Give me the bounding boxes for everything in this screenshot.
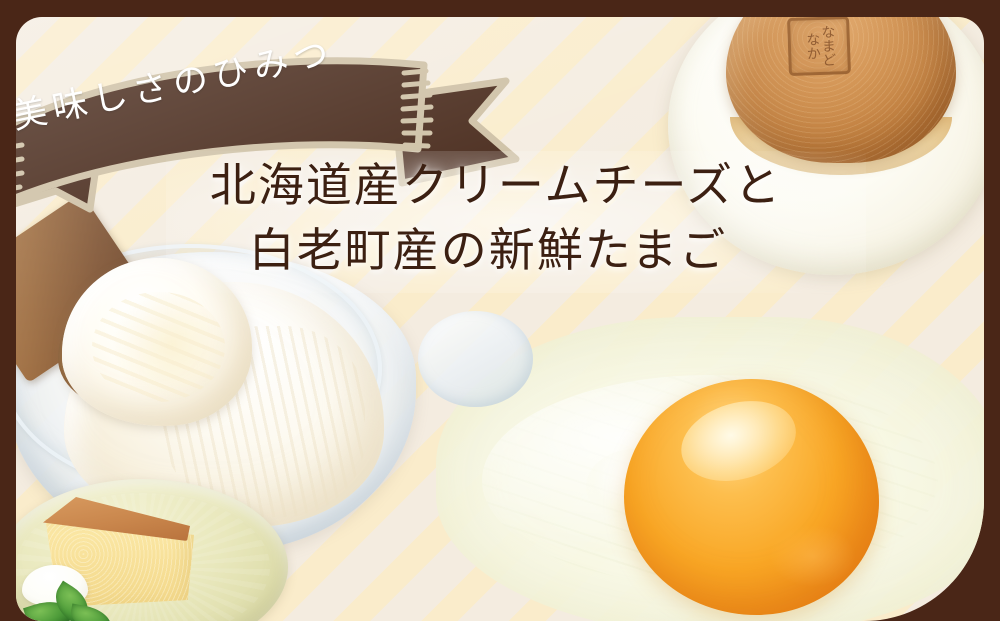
brand-stamp-col-2: なまど xyxy=(819,24,835,66)
mint-garnish xyxy=(26,585,112,621)
fresh-egg-photo xyxy=(436,317,984,621)
egg-bowl-lip xyxy=(418,311,533,407)
promo-banner: なか なまど 北海道産クリームチーズと 白老町産の新鮮たまご xyxy=(0,0,1000,621)
egg-yolk xyxy=(624,379,879,615)
ribbon-label: 美味しさのひみつ xyxy=(16,17,448,139)
brand-stamp-icon: なか なまど xyxy=(787,17,851,76)
headline-block: 北海道産クリームチーズと 白老町産の新鮮たまご xyxy=(16,153,984,284)
brand-stamp-col-1: なか xyxy=(804,32,819,60)
headline-line-1: 北海道産クリームチーズと xyxy=(16,153,984,218)
headline-line-2: 白老町産の新鮮たまご xyxy=(16,218,984,283)
mint-leaf xyxy=(68,604,114,621)
cheesecake-photo xyxy=(16,469,298,621)
banner-canvas: なか なまど 北海道産クリームチーズと 白老町産の新鮮たまご xyxy=(16,17,984,621)
